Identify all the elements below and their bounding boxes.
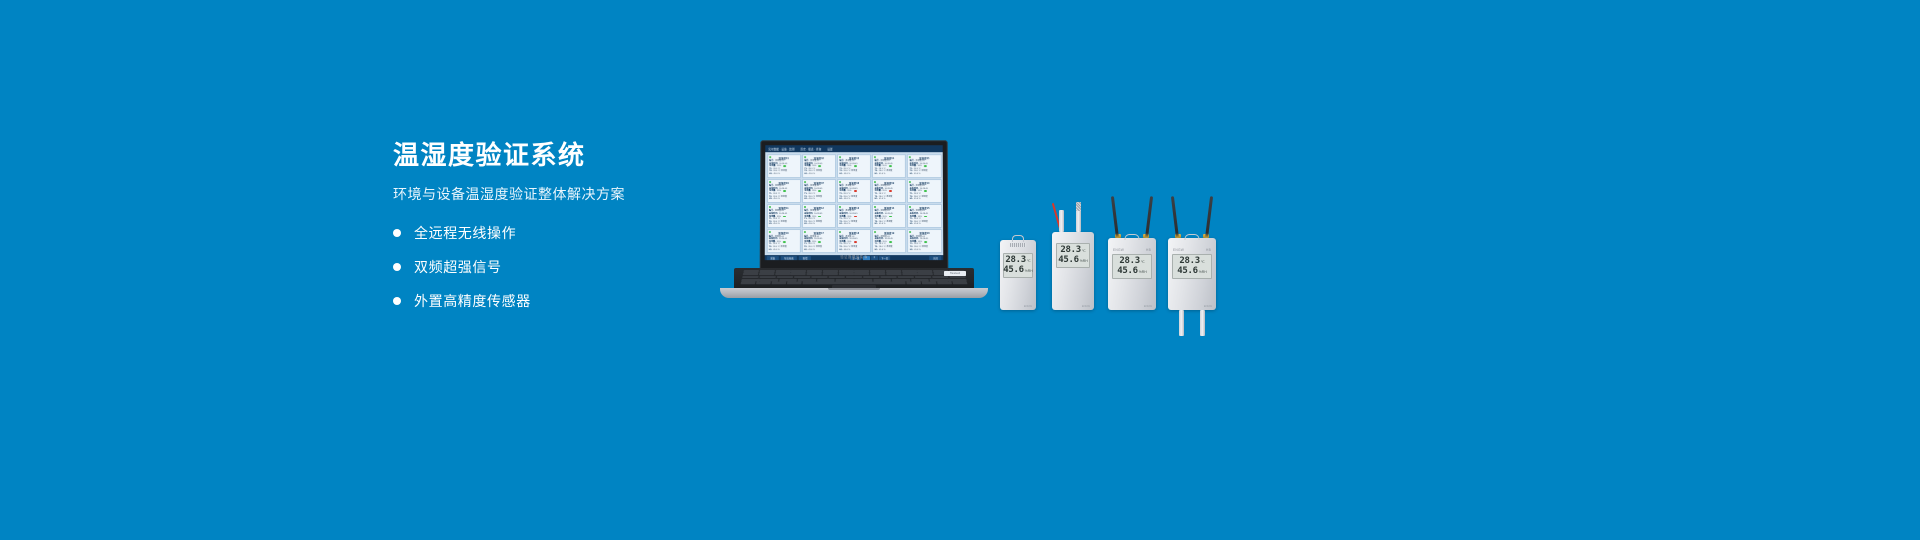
temperature-value: 28.3	[1005, 256, 1025, 265]
hanger-clip-icon	[1012, 235, 1024, 242]
keyboard-key[interactable]	[756, 282, 771, 284]
sensor-card-row: H1:45.6 %	[839, 198, 868, 201]
keyboard-key[interactable]	[759, 273, 775, 275]
bullet-dot-icon	[393, 263, 401, 271]
humidity-readout: 45.6 %RH	[1006, 266, 1030, 275]
app-statusbar: 验证数据采集中	[765, 254, 944, 259]
field-value: 45.6 %	[879, 198, 885, 201]
sensor-card-row: H1:45.6 %	[804, 249, 833, 252]
keyboard-key[interactable]	[892, 279, 910, 281]
device-dual-antenna-logger-a: ENGW HB 28.3 ℃ 45.6 %RH ENGW	[1108, 238, 1156, 310]
device-badge: ENGW	[1204, 305, 1212, 308]
sensor-card[interactable]: 温湿度14编号:温湿度-01采集时间:10:28:45电池量:95%T1:28.…	[872, 204, 906, 228]
humidity-readout: 45.6 %RH	[1115, 267, 1148, 276]
sensor-card-title: 温湿度18	[839, 231, 868, 235]
device-brand-left: ENGW	[1113, 248, 1124, 252]
field-key: H1:	[839, 198, 842, 201]
humidity-value: 45.6	[1177, 267, 1197, 276]
temperature-readout: 28.3 ℃	[1059, 246, 1087, 255]
banner-copy: 温湿度验证系统 环境与设备温湿度验证整体解决方案 全远程无线操作 双频超强信号 …	[393, 140, 723, 325]
sensor-card[interactable]: 温湿度05编号:温湿度-01采集时间:10:28:45电池量:95%T1:28.…	[907, 154, 941, 178]
sensor-card-row: H1:45.6 %	[804, 198, 833, 201]
status-led-icon	[839, 156, 841, 158]
antenna-left-icon	[1111, 196, 1119, 238]
keyboard-key[interactable]	[798, 279, 816, 281]
keyboard-key[interactable]	[803, 282, 906, 284]
laptop-illustration: 实时数据 · 设备 · 监测 历史 · 报表 · 查询 设置 温湿度01编号:温…	[720, 140, 988, 298]
field-value: 45.6 %	[914, 249, 921, 252]
keyboard-key[interactable]	[949, 276, 966, 278]
status-badge	[889, 165, 892, 167]
status-badge	[889, 241, 892, 243]
field-key: H1:	[804, 223, 807, 226]
keyboard-key[interactable]	[741, 279, 760, 281]
status-badge	[853, 241, 856, 243]
sensor-card-title: 温湿度16	[769, 231, 798, 235]
status-badge	[783, 241, 786, 243]
laptop-screen: 实时数据 · 设备 · 监测 历史 · 报表 · 查询 设置 温湿度01编号:温…	[765, 145, 944, 260]
sensor-card-title: 温湿度05	[910, 156, 939, 160]
field-key: H1:	[875, 198, 878, 201]
sensor-card-grid: 温湿度01编号:温湿度-01采集时间:10:28:45电池量:95%T1:28.…	[765, 152, 943, 255]
bullet-dot-icon	[393, 297, 401, 305]
field-value: 45.6 %	[914, 223, 921, 226]
lcd-display: 28.3 ℃ 45.6 %RH	[1056, 243, 1090, 268]
sensor-card-row: H1:45.6 %	[839, 223, 868, 226]
keyboard-key[interactable]	[937, 282, 952, 284]
keyboard-key[interactable]	[880, 276, 897, 278]
humidity-unit: %RH	[1080, 259, 1088, 263]
keyboard-key[interactable]	[743, 273, 759, 275]
sensor-card-row: H1:45.6 %	[875, 173, 904, 176]
humidity-unit: %RH	[1025, 269, 1033, 273]
device-brand-right: HB	[1206, 248, 1211, 252]
sensor-card[interactable]: 温湿度02编号:温湿度-01采集时间:10:28:45电池量:95%T1:28.…	[802, 154, 836, 178]
sensor-card-row: H1:45.6 %	[769, 223, 798, 226]
sensor-card-row: H1:45.6 %	[769, 173, 798, 176]
status-badge	[818, 241, 821, 243]
device-badge: ENGW	[1082, 305, 1090, 308]
temperature-unit: ℃	[1141, 260, 1145, 264]
sensor-card-row: H1:45.6 %	[875, 198, 904, 201]
feature-label: 双频超强信号	[414, 257, 502, 277]
keyboard-row	[743, 270, 964, 272]
sensor-card[interactable]: 温湿度01编号:温湿度-01采集时间:10:28:45电池量:95%T1:28.…	[767, 154, 801, 178]
field-value: 45.6 %	[809, 173, 815, 176]
device-brand-right: HB	[1146, 248, 1151, 252]
lcd-display: 28.3 ℃ 45.6 %RH	[1112, 254, 1151, 279]
temperature-unit: ℃	[1201, 260, 1205, 264]
sensor-card[interactable]: 温湿度15编号:温湿度-01采集时间:10:28:45电池量:95%T1:28.…	[907, 204, 941, 228]
keyboard-key[interactable]	[930, 279, 948, 281]
keyboard-key[interactable]	[870, 270, 885, 272]
status-badge	[924, 241, 927, 243]
keyboard-key[interactable]	[854, 273, 869, 275]
sensor-card[interactable]: 温湿度09编号:温湿度-01采集时间:10:28:45电池量:95%T1:28.…	[872, 179, 906, 203]
keyboard-key[interactable]	[775, 270, 790, 272]
keyboard-row	[742, 276, 966, 278]
humidity-unit: %RH	[1139, 270, 1147, 274]
temperature-value: 28.3	[1060, 246, 1080, 255]
device-dual-antenna-logger-b: ENGW HB 28.3 ℃ 45.6 %RH ENGW	[1168, 238, 1216, 310]
keyboard-key[interactable]	[775, 273, 790, 275]
sensor-card-row: H1:45.6 %	[839, 173, 868, 176]
keyboard-key[interactable]	[811, 276, 828, 278]
sensor-card[interactable]: 温湿度18编号:温湿度-01采集时间:10:28:45电池量:95%T1:28.…	[837, 229, 871, 253]
keyboard-key[interactable]	[902, 270, 917, 272]
temperature-readout: 28.3 ℃	[1115, 257, 1148, 266]
status-badge	[924, 190, 927, 192]
antenna-left-icon	[1171, 196, 1179, 238]
keyboard-key[interactable]	[932, 276, 949, 278]
status-badge	[818, 190, 821, 192]
keyboard-key[interactable]	[915, 276, 932, 278]
keyboard[interactable]	[741, 270, 968, 284]
sensor-device-group: 28.3 ℃ 45.6 %RH ENGW	[1000, 190, 1220, 310]
field-value: 45.6 %	[808, 249, 815, 252]
keyboard-key[interactable]	[779, 279, 797, 281]
keyboard-key[interactable]	[760, 279, 778, 281]
sensor-card[interactable]: 温湿度10编号:温湿度-01采集时间:10:28:45电池量:95%T1:28.…	[907, 179, 941, 203]
keyboard-key[interactable]	[838, 273, 853, 275]
sensor-card-row: H1:45.6 %	[804, 223, 833, 226]
humidity-unit: %RH	[1199, 270, 1207, 274]
temperature-readout: 28.3 ℃	[1175, 257, 1208, 266]
keyboard-key[interactable]	[791, 270, 806, 272]
sensor-card-row: H1:45.6 %	[910, 223, 939, 226]
field-key: H1:	[875, 223, 878, 226]
app-titlebar: 实时数据 · 设备 · 监测 历史 · 报表 · 查询 设置	[765, 145, 942, 152]
keyboard-key[interactable]	[948, 279, 967, 281]
list-item: 双频超强信号	[393, 257, 723, 277]
sensor-card[interactable]: 温湿度17编号:温湿度-01采集时间:10:28:45电池量:95%T1:28.…	[802, 229, 836, 253]
palm-rest	[720, 288, 988, 298]
list-item: 外置高精度传感器	[393, 291, 723, 311]
status-badge	[783, 165, 786, 167]
keyboard-key[interactable]	[863, 276, 880, 278]
probe-connector-icon	[1059, 210, 1064, 232]
status-badge	[783, 190, 786, 192]
keyboard-key[interactable]	[787, 282, 802, 284]
antenna-right-icon	[1205, 196, 1213, 238]
sensor-card[interactable]: 温湿度08编号:温湿度-01采集时间:10:28:45电池量:95%T1:28.…	[837, 179, 871, 203]
keyboard-key[interactable]	[846, 276, 862, 278]
field-value: 45.6 %	[844, 198, 850, 201]
keyboard-key[interactable]	[777, 276, 794, 278]
keyboard-key[interactable]	[886, 270, 901, 272]
sensor-card-row: H1:45.6 %	[875, 249, 904, 252]
keyboard-key[interactable]	[836, 279, 854, 281]
sensor-card[interactable]: 温湿度16编号:温湿度-01采集时间:10:28:45电池量:95%T1:28.…	[766, 229, 800, 253]
laptop-sticker: Tested	[944, 271, 966, 276]
sensor-card-title: 温湿度17	[804, 231, 833, 235]
field-key: H1:	[804, 249, 807, 252]
keyboard-key[interactable]	[918, 273, 933, 275]
sensor-card[interactable]: 温湿度04编号:温湿度-01采集时间:10:28:45电池量:95%T1:28.…	[872, 154, 906, 178]
sensor-card[interactable]: 温湿度13编号:温湿度-01采集时间:10:28:45电池量:95%T1:28.…	[837, 204, 871, 228]
field-value: 45.6 %	[914, 173, 920, 176]
sensor-card[interactable]: 温湿度12编号:温湿度-01采集时间:10:28:45电池量:95%T1:28.…	[802, 204, 836, 228]
keyboard-row	[743, 273, 966, 275]
sensor-card-title: 温湿度20	[910, 231, 939, 235]
keyboard-key[interactable]	[854, 270, 869, 272]
keyboard-key[interactable]	[742, 276, 759, 278]
field-key: H1:	[839, 223, 842, 226]
keyboard-key[interactable]	[952, 282, 967, 284]
sensor-card-row: H1:45.6 %	[804, 173, 833, 176]
titlebar-item-monitor[interactable]: 实时数据 · 设备 · 监测	[768, 147, 794, 151]
keyboard-key[interactable]	[822, 273, 837, 275]
humidity-value: 45.6	[1003, 266, 1023, 275]
sensor-card-row: H1:45.6 %	[875, 223, 904, 226]
field-value: 45.6 %	[879, 249, 886, 252]
keyboard-key[interactable]	[794, 276, 811, 278]
device-badge: ENGW	[1144, 305, 1152, 308]
keyboard-key[interactable]	[807, 273, 822, 275]
status-badge	[924, 165, 927, 167]
field-key: H1:	[910, 198, 913, 201]
temperature-value: 28.3	[1179, 257, 1199, 266]
status-badge	[924, 216, 927, 218]
sensor-card-row: H1:45.6 %	[769, 249, 798, 252]
sensor-card[interactable]: 温湿度19编号:温湿度-01采集时间:10:28:45电池量:95%T1:28.…	[872, 229, 906, 253]
sensor-card-title: 温湿度19	[875, 231, 904, 235]
keyboard-key[interactable]	[743, 270, 759, 272]
lcd-display: 28.3 ℃ 45.6 %RH	[1003, 253, 1033, 278]
keyboard-key[interactable]	[807, 270, 822, 272]
status-led-icon	[769, 156, 771, 158]
field-key: H1:	[910, 223, 913, 226]
device-compact-logger: 28.3 ℃ 45.6 %RH ENGW	[1000, 240, 1036, 310]
feature-label: 外置高精度传感器	[414, 291, 531, 311]
humidity-readout: 45.6 %RH	[1175, 267, 1208, 276]
keyboard-key[interactable]	[741, 282, 756, 284]
keyboard-key[interactable]	[906, 282, 921, 284]
field-value: 45.6 %	[844, 223, 850, 226]
probe-sensor-icon	[1179, 310, 1184, 336]
feature-label: 全远程无线操作	[414, 223, 516, 243]
keyboard-key[interactable]	[828, 276, 845, 278]
keyboard-key[interactable]	[759, 270, 774, 272]
keyboard-key[interactable]	[772, 282, 787, 284]
page-title: 温湿度验证系统	[393, 140, 723, 171]
feature-list: 全远程无线操作 双频超强信号 外置高精度传感器	[393, 223, 723, 311]
titlebar-item-settings[interactable]: 设置	[827, 147, 832, 151]
sensor-card-title: 温湿度01	[769, 156, 798, 160]
antenna-right-icon	[1145, 196, 1153, 238]
vent-grille-icon	[1010, 243, 1026, 247]
keyboard-key[interactable]	[921, 282, 936, 284]
keyboard-key[interactable]	[902, 273, 917, 275]
laptop-base: Tested	[720, 268, 988, 298]
keyboard-key[interactable]	[897, 276, 914, 278]
list-item: 全远程无线操作	[393, 223, 723, 243]
sensor-card-row: H1:45.6 %	[910, 198, 939, 201]
keyboard-key[interactable]	[917, 270, 932, 272]
field-value: 45.6 %	[914, 198, 920, 201]
field-value: 45.6 %	[809, 198, 815, 201]
temperature-readout: 28.3 ℃	[1006, 256, 1030, 265]
sensor-card[interactable]: 温湿度11编号:温湿度-01采集时间:10:28:45电池量:95%T1:28.…	[766, 204, 800, 228]
sensor-card-row: H1:45.6 %	[910, 249, 939, 252]
probe-sensor-icon	[1200, 310, 1205, 336]
sensor-card[interactable]: 温湿度06编号:温湿度-01采集时间:10:28:45电池量:95%T1:28.…	[767, 179, 801, 203]
field-value: 45.6 %	[879, 223, 885, 226]
temperature-unit: ℃	[1082, 249, 1086, 253]
status-badge	[818, 165, 821, 167]
humidity-value: 45.6	[1058, 256, 1078, 265]
temperature-value: 28.3	[1119, 257, 1139, 266]
device-probe-logger: 28.3 ℃ 45.6 %RH ENGW	[1052, 232, 1094, 310]
field-value: 45.6 %	[844, 173, 850, 176]
status-badge	[818, 216, 821, 218]
sensor-card-title: 温湿度02	[804, 156, 833, 160]
temperature-unit: ℃	[1027, 259, 1031, 263]
sensor-card[interactable]: 温湿度03编号:温湿度-01采集时间:10:28:45电池量:95%T1:28.…	[837, 154, 871, 178]
status-badge	[853, 216, 856, 218]
sensor-card-row: H1:45.6 %	[910, 173, 939, 176]
status-led-icon	[769, 181, 771, 183]
status-badge	[854, 165, 857, 167]
hanger-loop-icon	[1125, 234, 1140, 240]
field-key: H1:	[769, 198, 772, 201]
field-key: H1:	[804, 173, 807, 176]
bullet-dot-icon	[393, 229, 401, 237]
sensor-card[interactable]: 温湿度20编号:温湿度-01采集时间:10:28:45电池量:95%T1:28.…	[907, 229, 941, 253]
field-value: 45.6 %	[844, 249, 851, 252]
page-subtitle: 环境与设备温湿度验证整体解决方案	[393, 185, 723, 203]
sensor-card-row: H1:45.6 %	[769, 198, 798, 201]
keyboard-key[interactable]	[839, 270, 854, 272]
device-badge: ENGW	[1024, 305, 1032, 308]
sensor-card-title: 温湿度03	[839, 156, 868, 160]
field-key: H1:	[910, 249, 913, 252]
field-value: 45.6 %	[773, 249, 780, 252]
status-led-icon	[804, 156, 806, 158]
field-value: 45.6 %	[879, 173, 885, 176]
status-badge	[783, 216, 786, 218]
status-badge	[854, 190, 857, 192]
keyboard-key[interactable]	[911, 279, 929, 281]
device-brand-left: ENGW	[1173, 248, 1184, 252]
keyboard-key[interactable]	[873, 279, 891, 281]
keyboard-key[interactable]	[886, 273, 901, 275]
sensor-card[interactable]: 温湿度07编号:温湿度-01采集时间:10:28:45电池量:95%T1:28.…	[802, 179, 836, 203]
status-badge	[889, 216, 892, 218]
keyboard-key[interactable]	[823, 270, 838, 272]
field-value: 45.6 %	[773, 173, 779, 176]
keyboard-key[interactable]	[817, 279, 835, 281]
status-led-icon	[804, 181, 806, 183]
titlebar-item-history[interactable]: 历史 · 报表 · 查询	[800, 147, 821, 151]
humidity-readout: 45.6 %RH	[1059, 256, 1087, 265]
keyboard-key[interactable]	[759, 276, 776, 278]
field-key: H1:	[769, 249, 772, 252]
humidity-value: 45.6	[1117, 267, 1137, 276]
field-value: 45.6 %	[808, 223, 814, 226]
keyboard-key[interactable]	[854, 279, 872, 281]
laptop-lid: 实时数据 · 设备 · 监测 历史 · 报表 · 查询 设置 温湿度01编号:温…	[760, 140, 949, 270]
probe-sensor-icon	[1076, 202, 1081, 232]
field-value: 45.6 %	[773, 223, 780, 226]
keyboard-row	[741, 282, 968, 284]
keyboard-row	[741, 279, 966, 281]
field-key: H1:	[769, 223, 772, 226]
field-key: H1:	[875, 173, 878, 176]
sensor-card-row: H1:45.6 %	[839, 249, 868, 252]
field-value: 45.6 %	[773, 198, 779, 201]
field-key: H1:	[769, 173, 772, 176]
field-key: H1:	[839, 173, 842, 176]
promo-banner: 温湿度验证系统 环境与设备温湿度验证整体解决方案 全远程无线操作 双频超强信号 …	[0, 0, 1920, 540]
field-key: H1:	[875, 249, 878, 252]
status-badge	[889, 190, 892, 192]
keyboard-key[interactable]	[870, 273, 885, 275]
field-key: H1:	[910, 173, 913, 176]
field-key: H1:	[804, 198, 807, 201]
field-key: H1:	[839, 249, 842, 252]
sensor-card-title: 温湿度04	[875, 156, 904, 160]
lcd-display: 28.3 ℃ 45.6 %RH	[1172, 254, 1211, 279]
hanger-loop-icon	[1185, 234, 1200, 240]
keyboard-key[interactable]	[791, 273, 806, 275]
